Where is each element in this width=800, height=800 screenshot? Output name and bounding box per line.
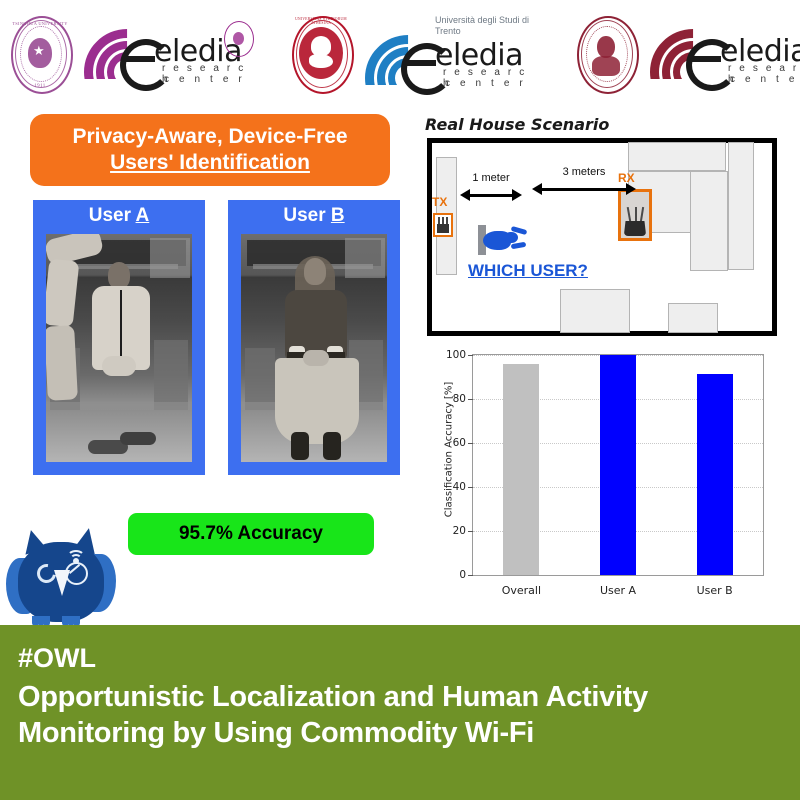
accuracy-badge: 95.7% Accuracy (128, 513, 374, 555)
owl-mascot-icon (4, 528, 116, 636)
user-a-caption-prefix: User (89, 205, 136, 226)
trento-crest-icon: UNIVERSITAS STUDIORUM ATHESINA (285, 10, 357, 96)
logo-group-tsinghua: TSINGHUA UNIVERSITY 1911 eledia r e s e … (4, 8, 252, 98)
chart-y-tick-label: 0 (459, 569, 473, 581)
eledia-logo-blue: Università degli Studi di Trento eledia … (363, 17, 533, 89)
dimension-1-label: 1 meter (460, 172, 522, 184)
furniture-block (728, 142, 754, 270)
tx-label: TX (432, 195, 447, 209)
chart-x-tick-label: User B (655, 584, 775, 597)
mini-crest-icon (222, 19, 256, 59)
eledia-sub-center: c e n t e r (730, 74, 800, 85)
accuracy-bar-chart: Classification Accuracy [%] 020406080100… (424, 348, 780, 616)
bottom-banner: #OWL Opportunistic Localization and Huma… (0, 625, 800, 800)
wifi-signal-icon (67, 550, 83, 562)
dimension-1-meter: 1 meter (460, 185, 522, 205)
user-b-caption-letter: B (331, 205, 345, 226)
which-user-question: WHICH USER? (468, 261, 588, 281)
tx-device-icon (433, 213, 453, 237)
person-silhouette-icon (478, 225, 526, 255)
dimension-3-meters: 3 meters (532, 179, 636, 199)
dimension-2-label: 3 meters (532, 166, 636, 178)
chart-y-tick-label: 100 (446, 349, 473, 361)
crest-rim-text: TSINGHUA UNIVERSITY (4, 21, 76, 26)
eledia-sub-center: c e n t e r (445, 78, 526, 89)
logo-group-athens: eledia r e s e a r c h c e n t e r (570, 8, 800, 98)
chart-y-tick-label: 60 (453, 437, 473, 449)
chart-bar (600, 355, 636, 575)
user-a-caption: User A (33, 205, 205, 227)
poster-canvas: TSINGHUA UNIVERSITY 1911 eledia r e s e … (0, 0, 800, 800)
project-subtitle-line-2: Monitoring by Using Commodity Wi-Fi (18, 717, 534, 750)
user-b-caption: User B (228, 205, 400, 227)
floorplan-diagram: TX RX 1 meter 3 meters WHICH USER? (427, 138, 777, 336)
chart-y-tick-label: 40 (453, 481, 473, 493)
user-a-photo (46, 234, 192, 462)
project-subtitle-line-1: Opportunistic Localization and Human Act… (18, 681, 648, 714)
chart-plot-area: 020406080100OverallUser AUser B (472, 354, 764, 576)
project-hashtag: #OWL (18, 643, 96, 674)
athens-crest-icon (570, 10, 642, 96)
logo-strip: TSINGHUA UNIVERSITY 1911 eledia r e s e … (0, 0, 800, 105)
user-a-caption-letter: A (136, 205, 150, 226)
chart-bar (503, 364, 539, 575)
eledia-logo-purple: eledia r e s e a r c h c e n t e r (82, 17, 252, 89)
owl-beak-icon (54, 570, 70, 596)
title-line-2: Users' Identification (110, 150, 310, 176)
furniture-block (628, 142, 726, 171)
furniture-block (560, 289, 630, 333)
user-card-b: User B (228, 200, 400, 475)
crest-year: 1911 (4, 84, 76, 89)
trento-university-caption: Università degli Studi di Trento (435, 15, 545, 37)
chart-bar (697, 374, 733, 575)
eledia-logo-darkred: eledia r e s e a r c h c e n t e r (648, 17, 800, 89)
user-card-a: User A (33, 200, 205, 475)
furniture-block (668, 303, 718, 333)
floorplan-title: Real House Scenario (425, 115, 609, 134)
eledia-sub-center: c e n t e r (164, 74, 245, 85)
furniture-block (690, 171, 728, 271)
chart-y-tick-label: 80 (453, 393, 473, 405)
tsinghua-crest-icon: TSINGHUA UNIVERSITY 1911 (4, 10, 76, 96)
privacy-title-banner: Privacy-Aware, Device-Free Users' Identi… (30, 114, 390, 186)
chart-y-tick-label: 20 (453, 525, 473, 537)
chart-y-axis-label: Classification Accuracy [%] (444, 365, 455, 535)
crest-rim-text: UNIVERSITAS STUDIORUM ATHESINA (285, 17, 357, 25)
user-b-caption-prefix: User (283, 205, 331, 226)
user-b-photo (241, 234, 387, 462)
logo-group-trento: UNIVERSITAS STUDIORUM ATHESINA Universit… (285, 8, 533, 98)
title-line-1: Privacy-Aware, Device-Free (72, 124, 347, 150)
